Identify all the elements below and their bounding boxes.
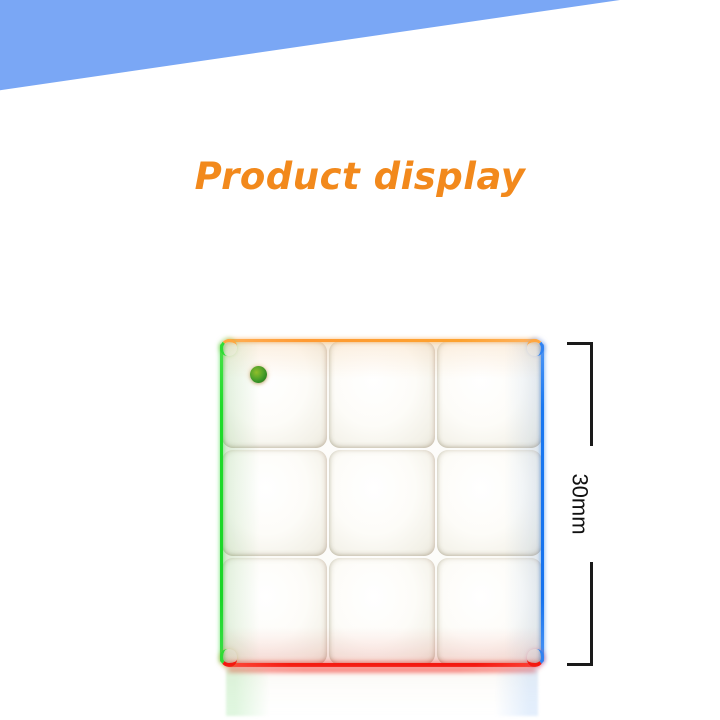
dimension-tick-top: [567, 342, 593, 345]
product-image: [221, 340, 543, 666]
cubie-r3c2: [329, 558, 434, 665]
cubie-r1c3: [437, 341, 542, 448]
dimension-label: 30mm: [567, 473, 593, 534]
rubiks-cube: [221, 340, 543, 666]
product-reflection: [226, 668, 538, 716]
page-title: Product display: [0, 155, 720, 199]
cubie-r2c3: [437, 450, 542, 557]
cubie-r3c3: [437, 558, 542, 665]
blue-corner-banner: [0, 0, 620, 96]
cubie-r2c2: [329, 450, 434, 557]
product-display-page: Product display: [0, 0, 720, 720]
dimension-label-wrap: 30mm: [565, 446, 595, 562]
dimension-bracket: 30mm: [565, 342, 593, 666]
keychain-hole-icon: [250, 366, 267, 383]
dimension-tick-bottom: [567, 663, 593, 666]
cubie-r2c1: [222, 450, 327, 557]
cubie-r1c1: [222, 341, 327, 448]
cubie-r3c1: [222, 558, 327, 665]
cubie-r1c2: [329, 341, 434, 448]
